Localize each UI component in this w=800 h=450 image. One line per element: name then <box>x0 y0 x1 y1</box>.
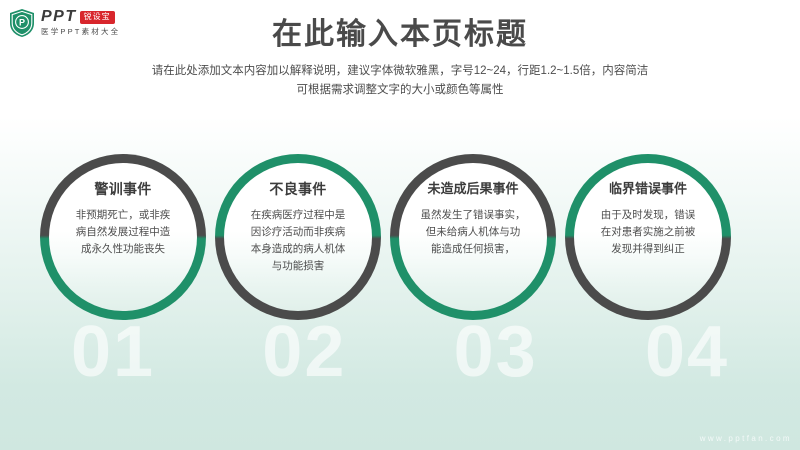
circle-body-2: 在疾病医疗过程中是 因诊疗活动而非疾病 本身造成的病人机体 与功能损害 <box>227 207 369 275</box>
circle-body-line: 成永久性功能丧失 <box>52 241 194 258</box>
circle-body-line: 病自然发展过程中造 <box>52 224 194 241</box>
circle-title-3: 未造成后果事件 <box>402 180 544 198</box>
circle-content-4: 临界错误事件 由于及时发现，错误 在对患者实施之前被 发现并得到纠正 <box>577 180 719 258</box>
circle-content-1: 警训事件 非预期死亡，或非疾 病自然发展过程中造 成永久性功能丧失 <box>52 180 194 258</box>
circle-body-line: 与功能损害 <box>227 258 369 275</box>
circle-body-line: 在疾病医疗过程中是 <box>227 207 369 224</box>
circle-title-1: 警训事件 <box>52 180 194 198</box>
circle-group: 警训事件 非预期死亡，或非疾 病自然发展过程中造 成永久性功能丧失 不良事件 在… <box>0 0 800 450</box>
circle-card-1[interactable]: 警训事件 非预期死亡，或非疾 病自然发展过程中造 成永久性功能丧失 <box>40 154 206 320</box>
circle-title-2: 不良事件 <box>227 180 369 198</box>
circle-body-line: 能造成任何损害， <box>402 241 544 258</box>
circle-body-1: 非预期死亡，或非疾 病自然发展过程中造 成永久性功能丧失 <box>52 207 194 258</box>
circle-card-3[interactable]: 未造成后果事件 虽然发生了错误事实， 但未给病人机体与功 能造成任何损害， <box>390 154 556 320</box>
circle-body-line: 本身造成的病人机体 <box>227 241 369 258</box>
circle-card-2[interactable]: 不良事件 在疾病医疗过程中是 因诊疗活动而非疾病 本身造成的病人机体 与功能损害 <box>215 154 381 320</box>
circle-body-4: 由于及时发现，错误 在对患者实施之前被 发现并得到纠正 <box>577 207 719 258</box>
circle-body-line: 非预期死亡，或非疾 <box>52 207 194 224</box>
circle-card-4[interactable]: 临界错误事件 由于及时发现，错误 在对患者实施之前被 发现并得到纠正 <box>565 154 731 320</box>
circle-body-line: 虽然发生了错误事实， <box>402 207 544 224</box>
circle-content-2: 不良事件 在疾病医疗过程中是 因诊疗活动而非疾病 本身造成的病人机体 与功能损害 <box>227 180 369 275</box>
circle-body-3: 虽然发生了错误事实， 但未给病人机体与功 能造成任何损害， <box>402 207 544 258</box>
slide-canvas: 01 02 03 04 P PPT 锐设宝 医学PPT素材大全 在此输入本页标题… <box>0 0 800 450</box>
circle-body-line: 在对患者实施之前被 <box>577 224 719 241</box>
circle-body-line: 但未给病人机体与功 <box>402 224 544 241</box>
circle-body-line: 由于及时发现，错误 <box>577 207 719 224</box>
circle-body-line: 发现并得到纠正 <box>577 241 719 258</box>
circle-title-4: 临界错误事件 <box>577 180 719 198</box>
footer-watermark: www.pptfan.com <box>700 434 792 443</box>
circle-body-line: 因诊疗活动而非疾病 <box>227 224 369 241</box>
circle-content-3: 未造成后果事件 虽然发生了错误事实， 但未给病人机体与功 能造成任何损害， <box>402 180 544 258</box>
